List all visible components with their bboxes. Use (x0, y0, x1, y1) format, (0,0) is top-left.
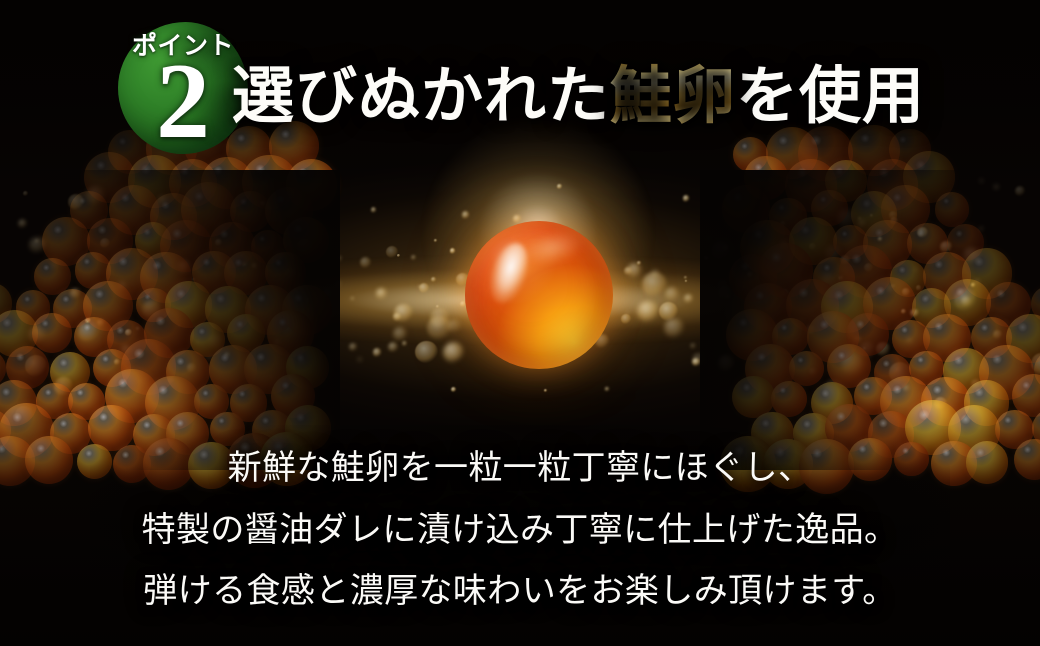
description-line-1: 新鮮な鮭卵を一粒一粒丁寧にほぐし、 (0, 446, 1040, 492)
description-line-3: 弾ける食感と濃厚な味わいをお楽しみ頂けます。 (0, 569, 1040, 615)
hero-roe-sphere (465, 221, 613, 369)
headline-lead: 選びぬかれた (232, 63, 610, 131)
description-line-2: 特製の醤油ダレに漬け込み丁寧に仕上げた逸品。 (0, 508, 1040, 554)
point-badge: ポイント 2 (118, 22, 248, 154)
headline-tail: を使用 (736, 63, 925, 131)
promo-banner: ポイント 2 選びぬかれた鮭卵を使用 新鮮な鮭卵を一粒一粒丁寧にほぐし、 特製の… (0, 0, 1040, 646)
badge-number: 2 (118, 48, 248, 156)
description-block: 新鮮な鮭卵を一粒一粒丁寧にほぐし、 特製の醤油ダレに漬け込み丁寧に仕上げた逸品。… (0, 446, 1040, 615)
headline-highlight: 鮭卵 (610, 63, 736, 131)
page-title: 選びぬかれた鮭卵を使用 (232, 66, 925, 128)
